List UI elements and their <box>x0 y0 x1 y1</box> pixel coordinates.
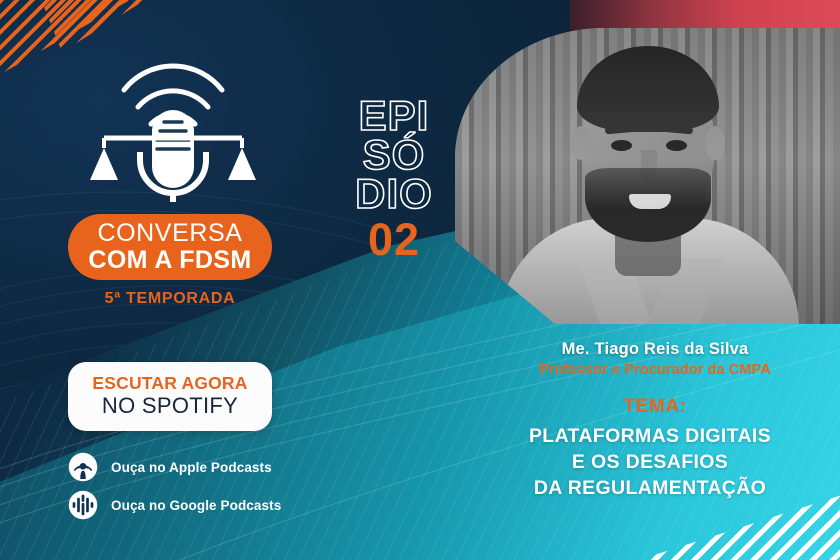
topic-label: TEMA: <box>470 396 840 418</box>
show-title-line1: CONVERSA <box>97 221 242 246</box>
topic-title-line3: DA REGULAMENTAÇÃO <box>460 476 840 502</box>
guest-role: Professor e Procurador da CMPA <box>470 362 840 378</box>
google-podcasts-link[interactable]: Ouça no Google Podcasts <box>68 490 281 520</box>
episode-label-line3: DIO <box>338 174 450 213</box>
episode-number: 02 <box>338 217 450 262</box>
show-title-badge: CONVERSA COM A FDSM <box>68 214 272 280</box>
episode-marker: EPI SÓ DIO 02 <box>338 96 450 262</box>
topic-title: PLATAFORMAS DIGITAIS E OS DESAFIOS DA RE… <box>460 424 840 502</box>
listen-on-spotify-button[interactable]: ESCUTAR AGORA NO SPOTIFY <box>68 362 272 431</box>
apple-podcasts-icon <box>68 452 98 482</box>
google-podcasts-label: Ouça no Google Podcasts <box>111 498 281 513</box>
podcast-promo-poster: CONVERSA COM A FDSM 5ª TEMPORADA ESCUTAR… <box>0 0 840 560</box>
season-label: 5ª TEMPORADA <box>68 290 272 308</box>
apple-podcasts-link[interactable]: Ouça no Apple Podcasts <box>68 452 272 482</box>
apple-podcasts-label: Ouça no Apple Podcasts <box>111 460 272 475</box>
microphone-scales-of-justice-icon <box>88 52 258 202</box>
guest-portrait-photo <box>455 28 840 324</box>
google-podcasts-icon <box>68 490 98 520</box>
episode-label-line2: SÓ <box>338 135 450 174</box>
guest-name: Me. Tiago Reis da Silva <box>470 340 840 359</box>
show-title-line2: COM A FDSM <box>88 246 251 274</box>
topic-title-line2: E OS DESAFIOS <box>460 450 840 476</box>
topic-title-line1: PLATAFORMAS DIGITAIS <box>460 424 840 450</box>
spotify-cta-line1: ESCUTAR AGORA <box>92 374 247 393</box>
episode-label-line1: EPI <box>338 96 450 135</box>
spotify-cta-line2: NO SPOTIFY <box>102 393 238 418</box>
